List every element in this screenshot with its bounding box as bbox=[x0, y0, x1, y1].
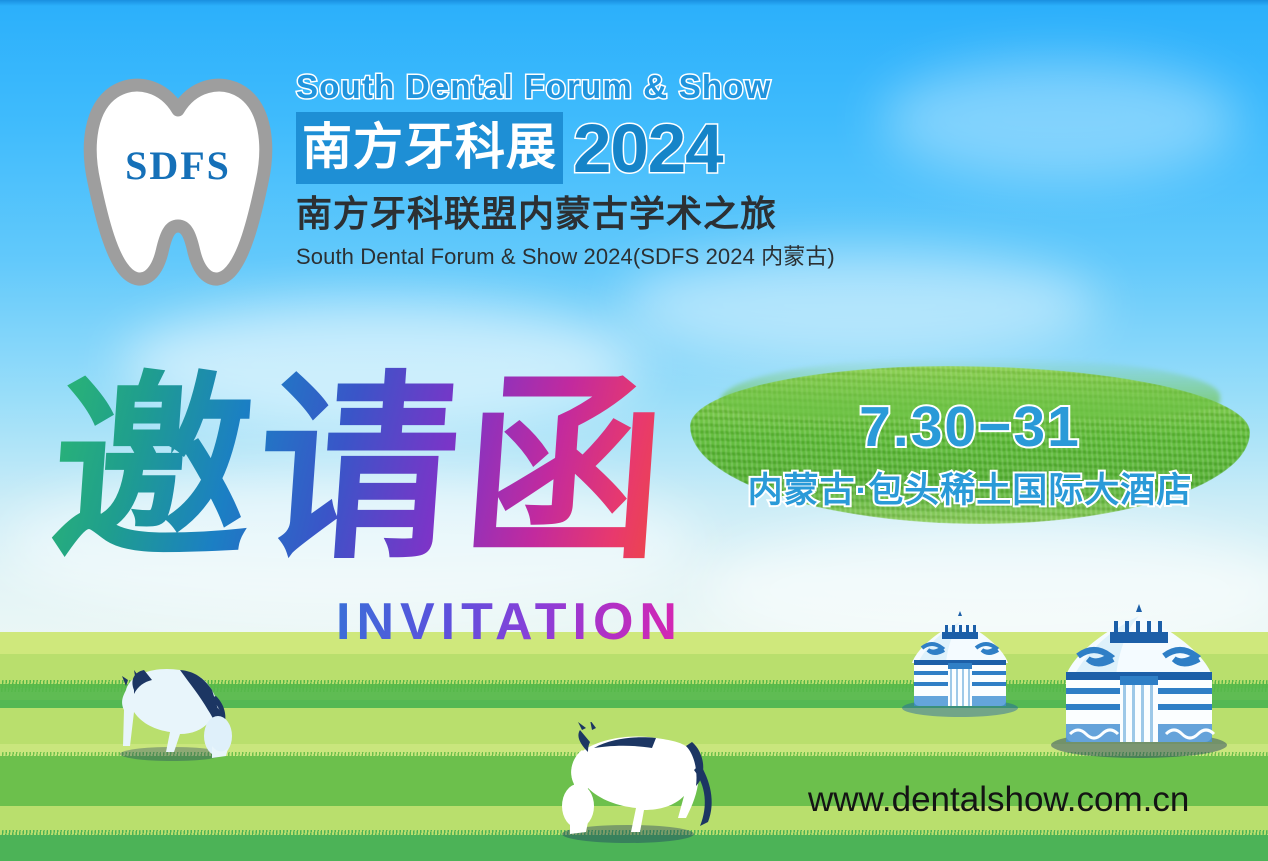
event-date: 7.30−31 bbox=[690, 394, 1250, 460]
invitation-label: INVITATION bbox=[336, 592, 683, 652]
subtitle-english: South Dental Forum & Show 2024(SDFS 2024… bbox=[296, 239, 996, 271]
horse-center bbox=[536, 722, 716, 848]
year-label: 2024 bbox=[573, 114, 723, 184]
logo-text: SDFS bbox=[72, 142, 284, 189]
event-venue: 内蒙古·包头稀土国际大酒店 bbox=[690, 462, 1250, 513]
logo: SDFS bbox=[72, 70, 284, 290]
invitation-poster: SDFS South Dental Forum & Show 南方牙科展 202… bbox=[0, 0, 1268, 861]
website-url[interactable]: www.dentalshow.com.cn bbox=[808, 780, 1189, 820]
event-details: 7.30−31 内蒙古·包头稀土国际大酒店 bbox=[690, 358, 1250, 534]
yurt-small bbox=[898, 608, 1022, 720]
subtitle-chinese: 南方牙科联盟内蒙古学术之旅 bbox=[296, 193, 996, 235]
horse-left bbox=[96, 650, 248, 766]
invitation-calligraphy: 邀请函 bbox=[43, 352, 680, 602]
yurt-large bbox=[1044, 600, 1234, 760]
header-block: South Dental Forum & Show 南方牙科展 2024 南方牙… bbox=[296, 66, 996, 271]
title-english: South Dental Forum & Show bbox=[296, 66, 996, 108]
title-row: 南方牙科展 2024 bbox=[296, 110, 996, 184]
title-chinese: 南方牙科展 bbox=[296, 112, 563, 184]
